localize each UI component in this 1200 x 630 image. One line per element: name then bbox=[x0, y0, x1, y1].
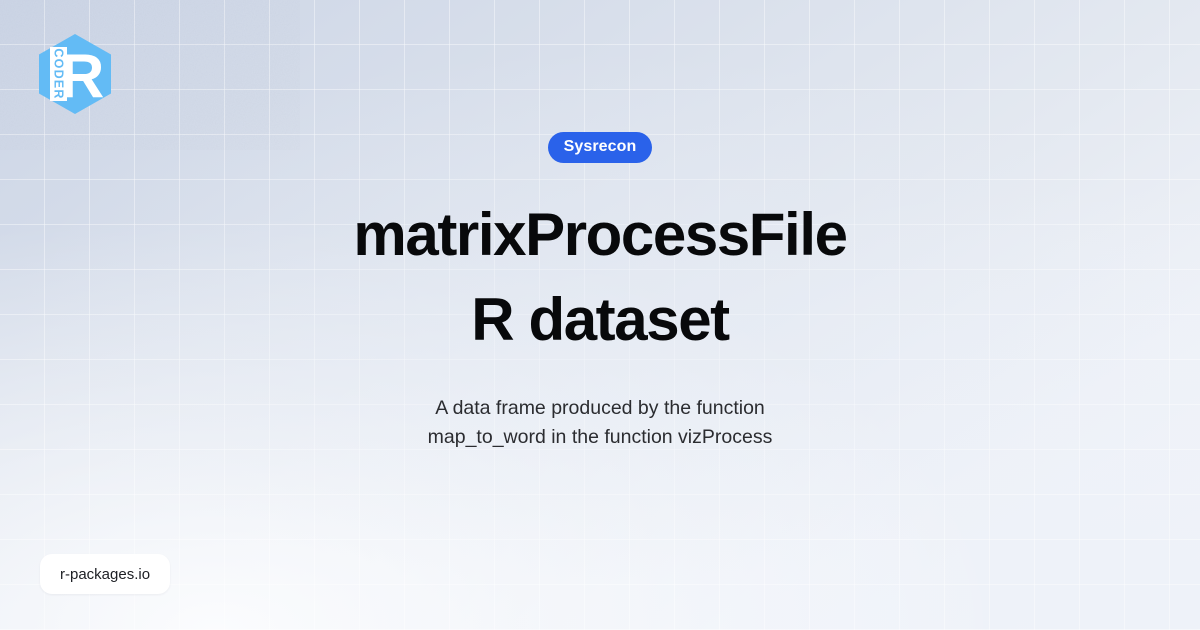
site-chip-label: r-packages.io bbox=[60, 566, 150, 583]
page-subtitle: A data frame produced by the function ma… bbox=[428, 394, 773, 452]
hero-section: Sysrecon matrixProcessFile R dataset A d… bbox=[0, 0, 1200, 630]
site-chip[interactable]: r-packages.io bbox=[40, 554, 170, 594]
page-subtitle-line-1: A data frame produced by the function bbox=[435, 397, 765, 419]
package-badge[interactable]: Sysrecon bbox=[548, 132, 653, 163]
page-title-line-1: matrixProcessFile bbox=[353, 201, 846, 268]
page-title: matrixProcessFile R dataset bbox=[353, 192, 846, 362]
page-subtitle-line-2: map_to_word in the function vizProcess bbox=[428, 426, 773, 448]
page-title-line-2: R dataset bbox=[471, 286, 729, 353]
